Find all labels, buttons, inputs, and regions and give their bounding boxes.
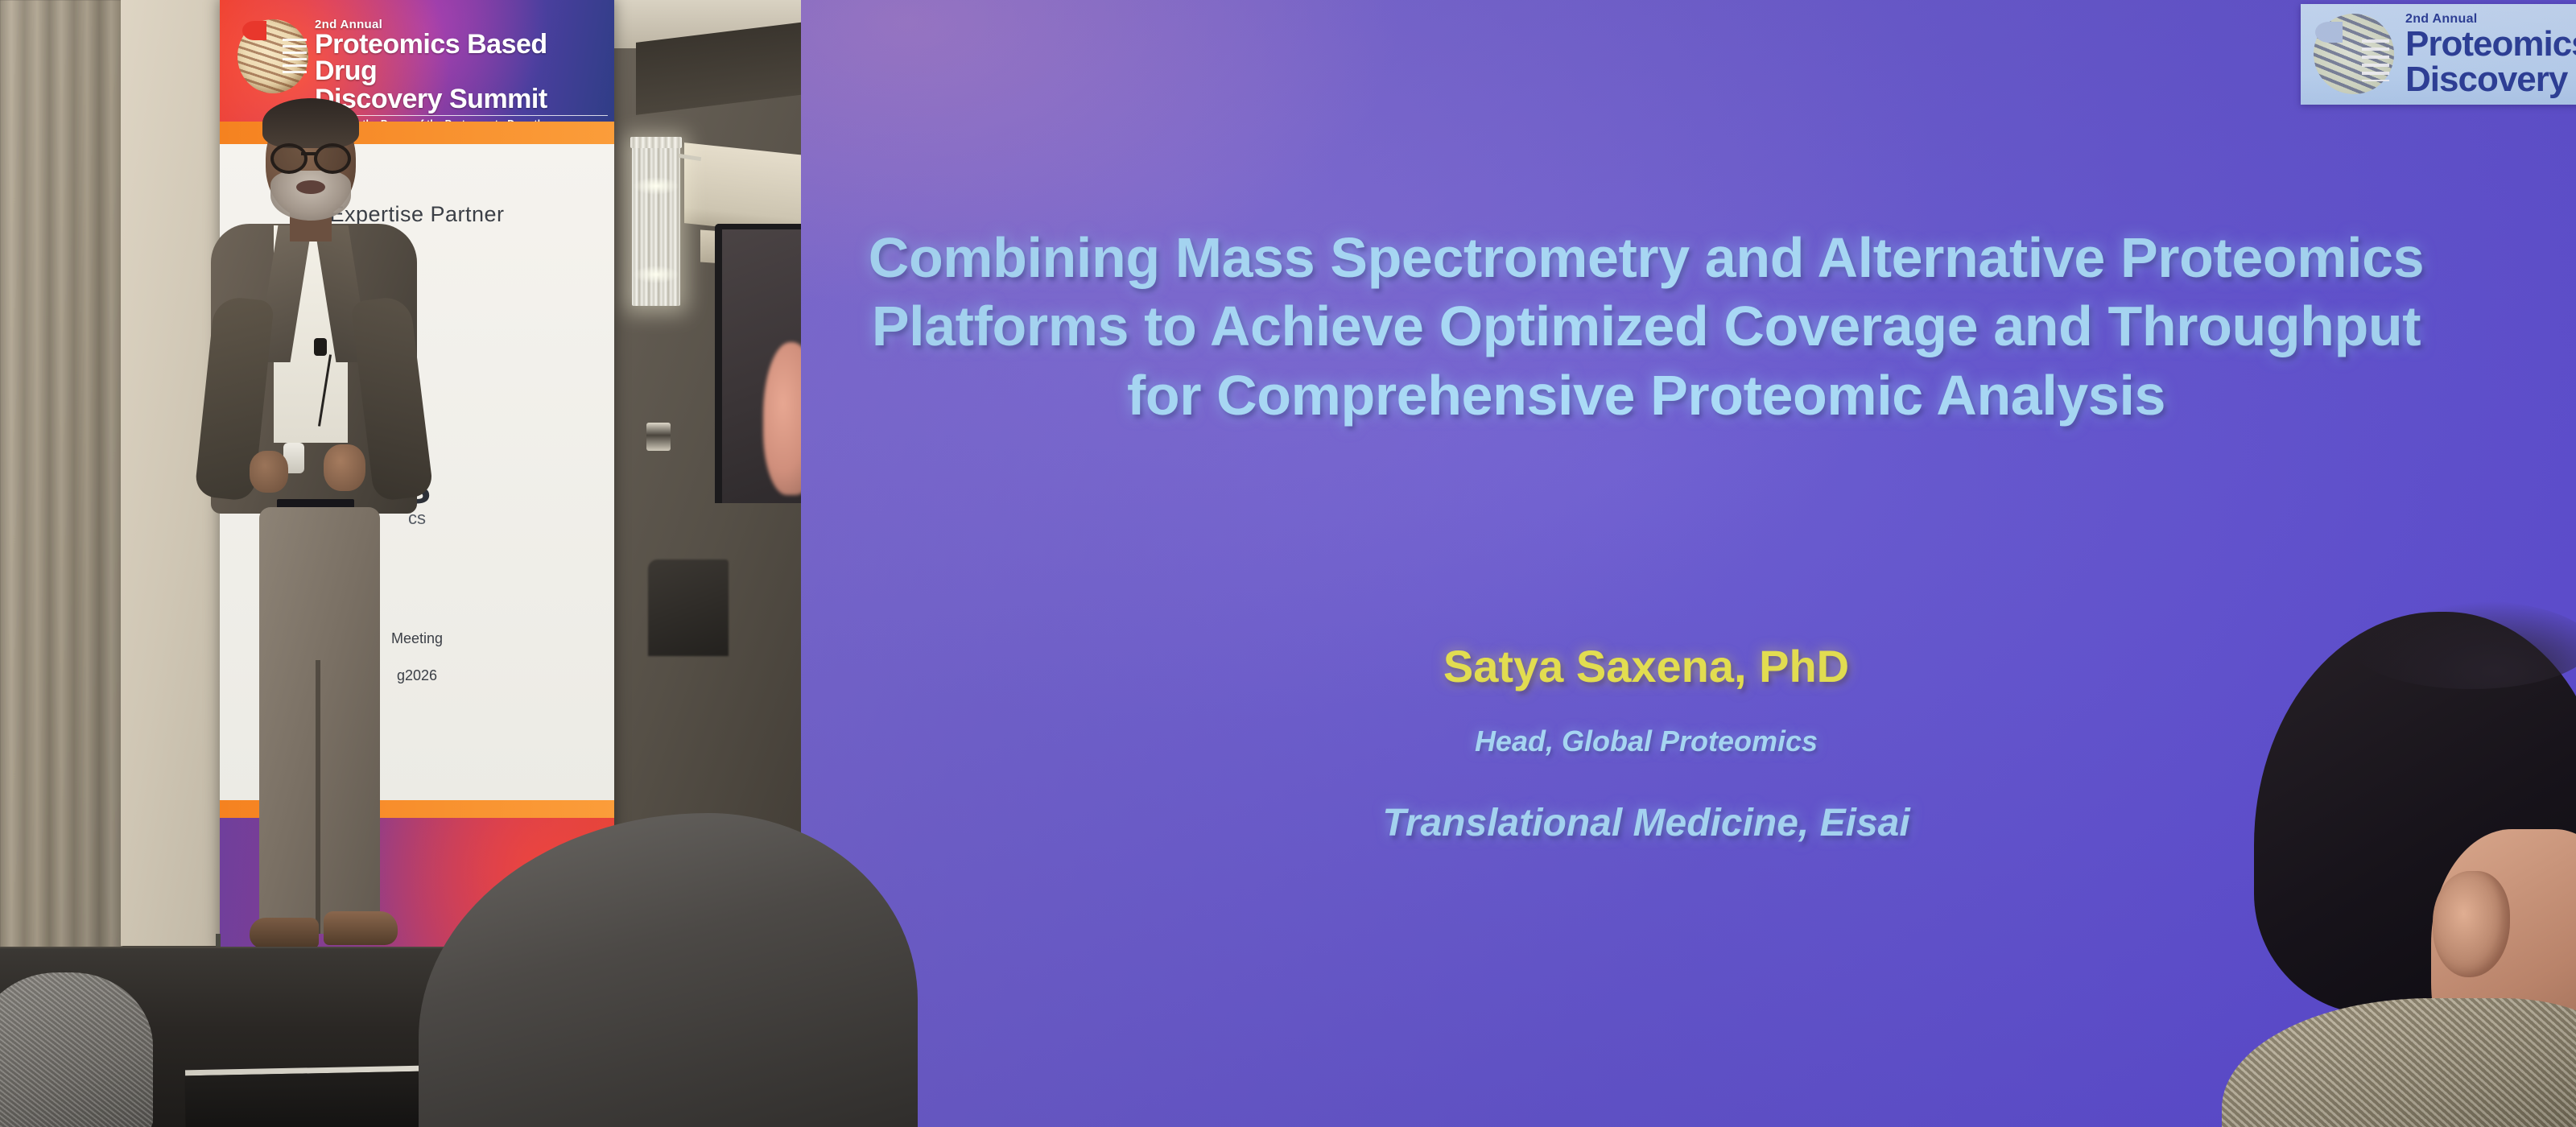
foreground-audience-head <box>2230 523 2576 1127</box>
slide-logo-text: 2nd Annual Proteomics B Discovery Su <box>2405 12 2576 98</box>
slide-title-line-2: Platforms to Achieve Optimized Coverage … <box>801 292 2491 361</box>
projection-screen: Combining Mass Spectrometry and Alternat… <box>801 0 2576 1127</box>
beige-curtain <box>0 0 122 950</box>
molecule-bars-icon <box>2362 39 2389 81</box>
wall-outlet <box>646 423 671 451</box>
sconce-glow-lower <box>634 266 679 283</box>
sconce-glow-upper <box>634 177 679 195</box>
slide-title-line-1: Combining Mass Spectrometry and Alternat… <box>801 224 2491 292</box>
presenter-hand-right <box>324 444 365 491</box>
presenter-mouth <box>296 180 325 194</box>
lens-right-icon <box>314 143 351 174</box>
slide-logo-line2: Discovery Su <box>2405 62 2576 98</box>
presenter-shoe-right <box>324 911 398 945</box>
audience-shoulder-tweed <box>2222 998 2576 1127</box>
lapel-microphone-icon <box>314 338 327 356</box>
molecule-notch-icon <box>2315 22 2343 43</box>
banner-title-line1: Proteomics Based Drug <box>315 31 608 85</box>
molecule-notch-icon <box>242 21 266 40</box>
presenter-hand-left <box>250 451 288 493</box>
slide-title: Combining Mass Spectrometry and Alternat… <box>801 224 2491 430</box>
far-chair <box>648 559 729 656</box>
eyeglasses-icon <box>269 143 353 167</box>
screenshot-root: 2nd Annual Proteomics Based Drug Discove… <box>0 0 2576 1127</box>
presenter-hair <box>262 98 359 148</box>
slide-corner-logo: 2nd Annual Proteomics B Discovery Su <box>2301 4 2576 105</box>
slide-logo-line1: Proteomics B <box>2405 27 2576 62</box>
soffit-ledge <box>684 142 801 236</box>
audience-chair <box>0 972 153 1127</box>
trouser-seam <box>316 660 320 934</box>
glasses-bridge-icon <box>301 152 316 155</box>
presenter-beard <box>270 171 351 221</box>
audience-hair-wisp <box>2351 601 2576 689</box>
slide-title-line-3: for Comprehensive Proteomic Analysis <box>801 361 2491 430</box>
sconce-cap <box>630 137 682 148</box>
presenter-shoe-left <box>250 918 319 948</box>
presenter-figure <box>203 97 444 1055</box>
lens-left-icon <box>270 143 308 174</box>
molecule-bars-icon <box>283 39 307 77</box>
